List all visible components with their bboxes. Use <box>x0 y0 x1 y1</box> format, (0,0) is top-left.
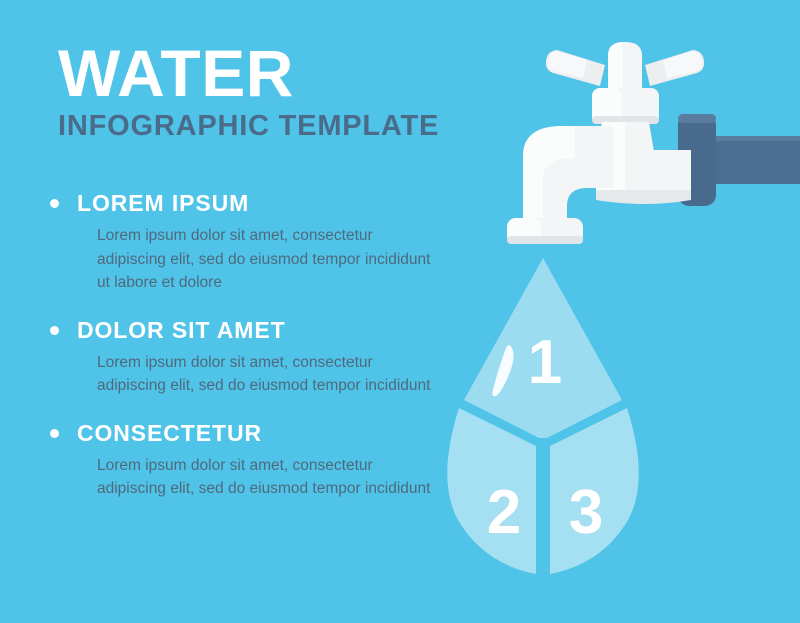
section-item-1: LOREM IPSUM Lorem ipsum dolor sit amet, … <box>50 192 460 295</box>
pipe-icon <box>705 136 800 184</box>
section-heading-1: LOREM IPSUM <box>50 192 460 215</box>
bullet-icon <box>50 199 59 208</box>
sections-list: LOREM IPSUM Lorem ipsum dolor sit amet, … <box>50 192 460 525</box>
bullet-icon <box>50 429 59 438</box>
faucet-illustration <box>495 28 800 258</box>
handle-left-arm-highlight <box>548 51 587 78</box>
section-heading-3: CONSECTETUR <box>50 422 460 445</box>
section-item-3: CONSECTETUR Lorem ipsum dolor sit amet, … <box>50 422 460 501</box>
page-subtitle: INFOGRAPHIC TEMPLATE <box>58 111 458 141</box>
section-body-2: Lorem ipsum dolor sit amet, consectetur … <box>97 351 442 398</box>
page-title: WATER <box>58 42 458 105</box>
pipe-collar-highlight <box>678 114 716 123</box>
section-body-1: Lorem ipsum dolor sit amet, consectetur … <box>97 224 442 295</box>
drop-number-two: 2 <box>487 478 521 547</box>
infographic-poster: WATER INFOGRAPHIC TEMPLATE LOREM IPSUM L… <box>0 0 800 623</box>
drop-number-one: 1 <box>528 328 562 397</box>
section-title-2: DOLOR SIT AMET <box>77 319 286 342</box>
header-block: WATER INFOGRAPHIC TEMPLATE <box>58 42 458 142</box>
section-item-2: DOLOR SIT AMET Lorem ipsum dolor sit ame… <box>50 319 460 398</box>
body-shade <box>596 190 691 204</box>
section-title-3: CONSECTETUR <box>77 422 262 445</box>
water-droplet-chart: 1 2 3 <box>432 252 654 588</box>
pipe-highlight <box>705 136 800 141</box>
drop-number-three: 3 <box>569 478 603 547</box>
handle-right-arm-highlight <box>663 51 702 78</box>
section-heading-2: DOLOR SIT AMET <box>50 319 460 342</box>
section-body-3: Lorem ipsum dolor sit amet, consectetur … <box>97 454 442 501</box>
nozzle-shade <box>507 236 583 244</box>
section-title-1: LOREM IPSUM <box>77 192 249 215</box>
bullet-icon <box>50 326 59 335</box>
